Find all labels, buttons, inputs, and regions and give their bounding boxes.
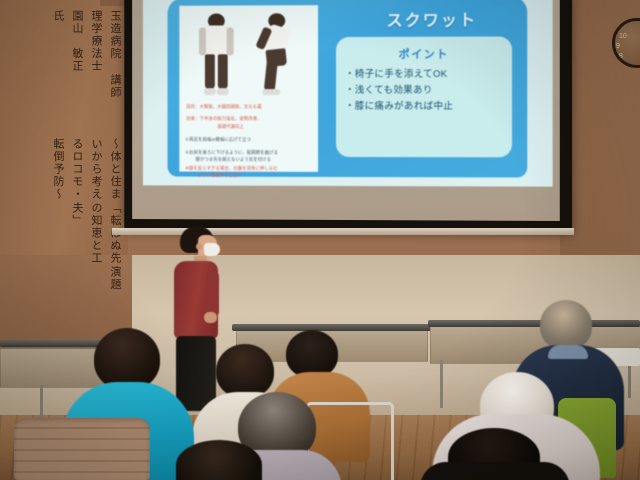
- photo-caption-note-2: ように意識すると良い: [193, 172, 242, 179]
- audience-head: [540, 300, 592, 350]
- audience-head: [216, 344, 274, 398]
- table-top-2: [232, 324, 432, 331]
- lecture-announcement-poster: 演題 「転ばぬ先の知恵と工夫」 〜体と住まいから考えるロコモ・転倒予防〜 講師 …: [2, 4, 124, 330]
- lecture-hall-photo: 10 9 8 演題 「転ばぬ先の知恵と工夫」 〜体と住まいから考えるロコモ・転倒…: [0, 0, 640, 480]
- photo-caption-red-1: 目的：大臀筋、大腿四頭筋、太もも裏: [186, 103, 261, 110]
- projection-screen-frame: ストレッチ・トレーニング: [124, 0, 572, 231]
- audience-head: [94, 328, 160, 390]
- table-top-3: [428, 320, 640, 327]
- presenter-ear: [196, 243, 202, 250]
- poster-line-5: 玉造病院 理学療法士 園山 敏正 氏: [2, 10, 124, 74]
- slide-point-box: ポイント ・椅子に手を添えてOK ・浅くても効果あり ・膝に痛みがあれば中止: [336, 36, 512, 157]
- projection-screen-surface: ストレッチ・トレーニング: [132, 0, 560, 221]
- point-box-title: ポイント: [336, 46, 512, 62]
- presenter-pants: [176, 336, 216, 411]
- photo-caption-step-3: 膝がつま先を越えないよう気を付ける: [191, 156, 271, 163]
- point-bullet-2: ・浅くても効果あり: [345, 83, 512, 99]
- presenter-face-mask: [204, 243, 220, 256]
- chair-back-brown-padded: [14, 418, 150, 480]
- point-bullet-1: ・椅子に手を添えてOK: [345, 67, 512, 83]
- clock-number-8: 8: [619, 53, 623, 60]
- poster-line-3: 〜体と住まいから考えるロコモ・転倒予防〜: [2, 138, 124, 202]
- audience-body: [420, 462, 570, 480]
- poster-line-1: 演題: [2, 266, 124, 330]
- photo-caption-red-2: 効果：下半身の筋力強化、姿勢改善、: [186, 115, 261, 122]
- table-leg-3: [440, 360, 443, 408]
- poster-line-2: 「転ばぬ先の知恵と工夫」: [2, 202, 124, 266]
- slide-photo-card: 目的：大臀筋、大腿四頭筋、太もも裏 効果：下半身の筋力強化、姿勢改善、 基礎代謝…: [179, 5, 318, 172]
- slide-blue-panel: 目的：大臀筋、大腿四頭筋、太もも裏 効果：下半身の筋力強化、姿勢改善、 基礎代謝…: [168, 0, 528, 178]
- audience-collar: [548, 345, 588, 359]
- point-bullet-3: ・膝に痛みがあれば中止: [345, 99, 512, 115]
- figure-standing-back-view: [195, 13, 238, 97]
- projected-slide: ストレッチ・トレーニング: [143, 0, 553, 187]
- presenter-hand: [204, 312, 217, 323]
- presenter-arm: [206, 270, 219, 318]
- poster-line-4: 講師: [2, 74, 124, 138]
- audience-head: [286, 330, 338, 378]
- slide-heading-squat: スクワット: [344, 6, 520, 31]
- clock-number-9: 9: [616, 43, 620, 50]
- photo-caption-red-3: 基礎代謝向上: [204, 123, 244, 130]
- figure-squat-side-view: [250, 13, 300, 97]
- photo-caption-step-1: ①両足を肩幅or腰幅に広げて立つ: [185, 136, 251, 143]
- clock-number-10: 10: [619, 33, 627, 40]
